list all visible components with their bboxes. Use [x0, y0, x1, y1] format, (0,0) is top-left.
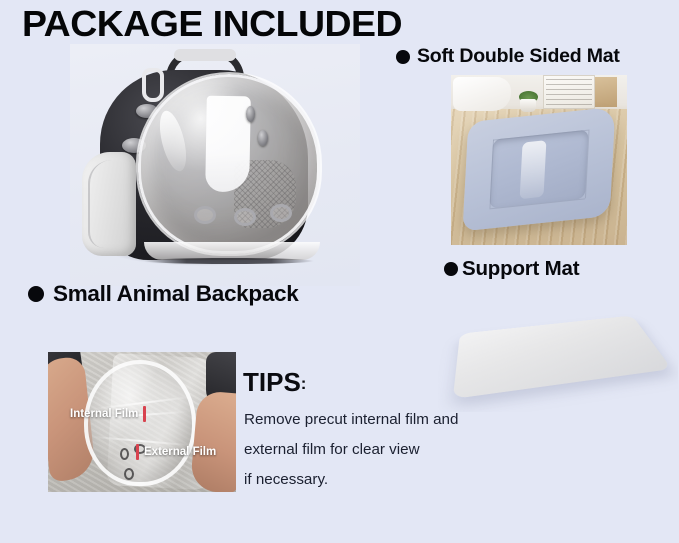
tips-heading-colon: : — [301, 374, 307, 393]
label-support-text: Support Mat — [462, 257, 579, 281]
label-soft-double-sided-mat: Soft Double Sided Mat — [396, 45, 620, 68]
support-mat-surface — [453, 315, 672, 399]
backpack-side-pocket-seam — [88, 160, 132, 248]
backpack-handle-grip-icon — [174, 49, 236, 61]
mat-scene-plant-pot — [520, 99, 536, 112]
backpack-strap-loop-icon — [142, 68, 164, 102]
backpack-ground-shadow — [144, 258, 314, 264]
tips-heading-text: TIPS — [243, 367, 301, 397]
label-small-animal-backpack: Small Animal Backpack — [28, 281, 299, 307]
package-included-infographic: PACKAGE INCLUDED Small Animal Backpack S… — [0, 0, 679, 543]
page-title: PACKAGE INCLUDED — [22, 3, 402, 45]
bullet-dot-icon — [28, 286, 44, 302]
backpack-vent-ring-icon — [194, 206, 216, 224]
mat-cushion-body — [463, 107, 616, 232]
tips-heading: TIPS: — [243, 367, 306, 398]
label-backpack-text: Small Animal Backpack — [53, 281, 299, 307]
protective-film-removal-photo: Internal Film External Film — [48, 352, 236, 492]
tips-line: external film for clear view — [244, 435, 534, 465]
backpack-vent-ring-icon — [270, 204, 292, 222]
mat-cushion-highlight — [520, 140, 547, 199]
label-mat-text: Soft Double Sided Mat — [417, 45, 620, 68]
mat-scene-sign-text-lines — [546, 79, 592, 105]
film-scene-vent-hole-icon — [124, 468, 134, 480]
label-support-mat: Support Mat — [444, 257, 579, 281]
film-tick-external-icon — [136, 444, 139, 460]
film-label-external: External Film — [144, 446, 216, 458]
tips-line: if necessary. — [244, 465, 534, 495]
pet-carrier-backpack-photo — [70, 44, 360, 286]
tips-line: Remove precut internal film and — [244, 405, 534, 435]
film-tick-internal-icon — [143, 406, 146, 422]
film-scene-vent-hole-icon — [120, 448, 129, 460]
soft-double-sided-mat-photo — [451, 75, 627, 245]
film-label-internal: Internal Film — [70, 408, 138, 420]
support-mat-photo — [438, 292, 678, 412]
backpack-dome-reflection — [205, 96, 251, 193]
backpack-vent-hole-icon — [246, 106, 255, 122]
backpack-vent-hole-icon — [258, 130, 268, 146]
backpack-vent-ring-icon — [234, 208, 256, 226]
mat-scene-pillow — [453, 77, 511, 111]
tips-body: Remove precut internal film and external… — [244, 405, 534, 495]
bullet-dot-icon — [396, 50, 410, 64]
mat-scene-frame-secondary — [595, 77, 617, 107]
bullet-dot-icon — [444, 262, 458, 276]
